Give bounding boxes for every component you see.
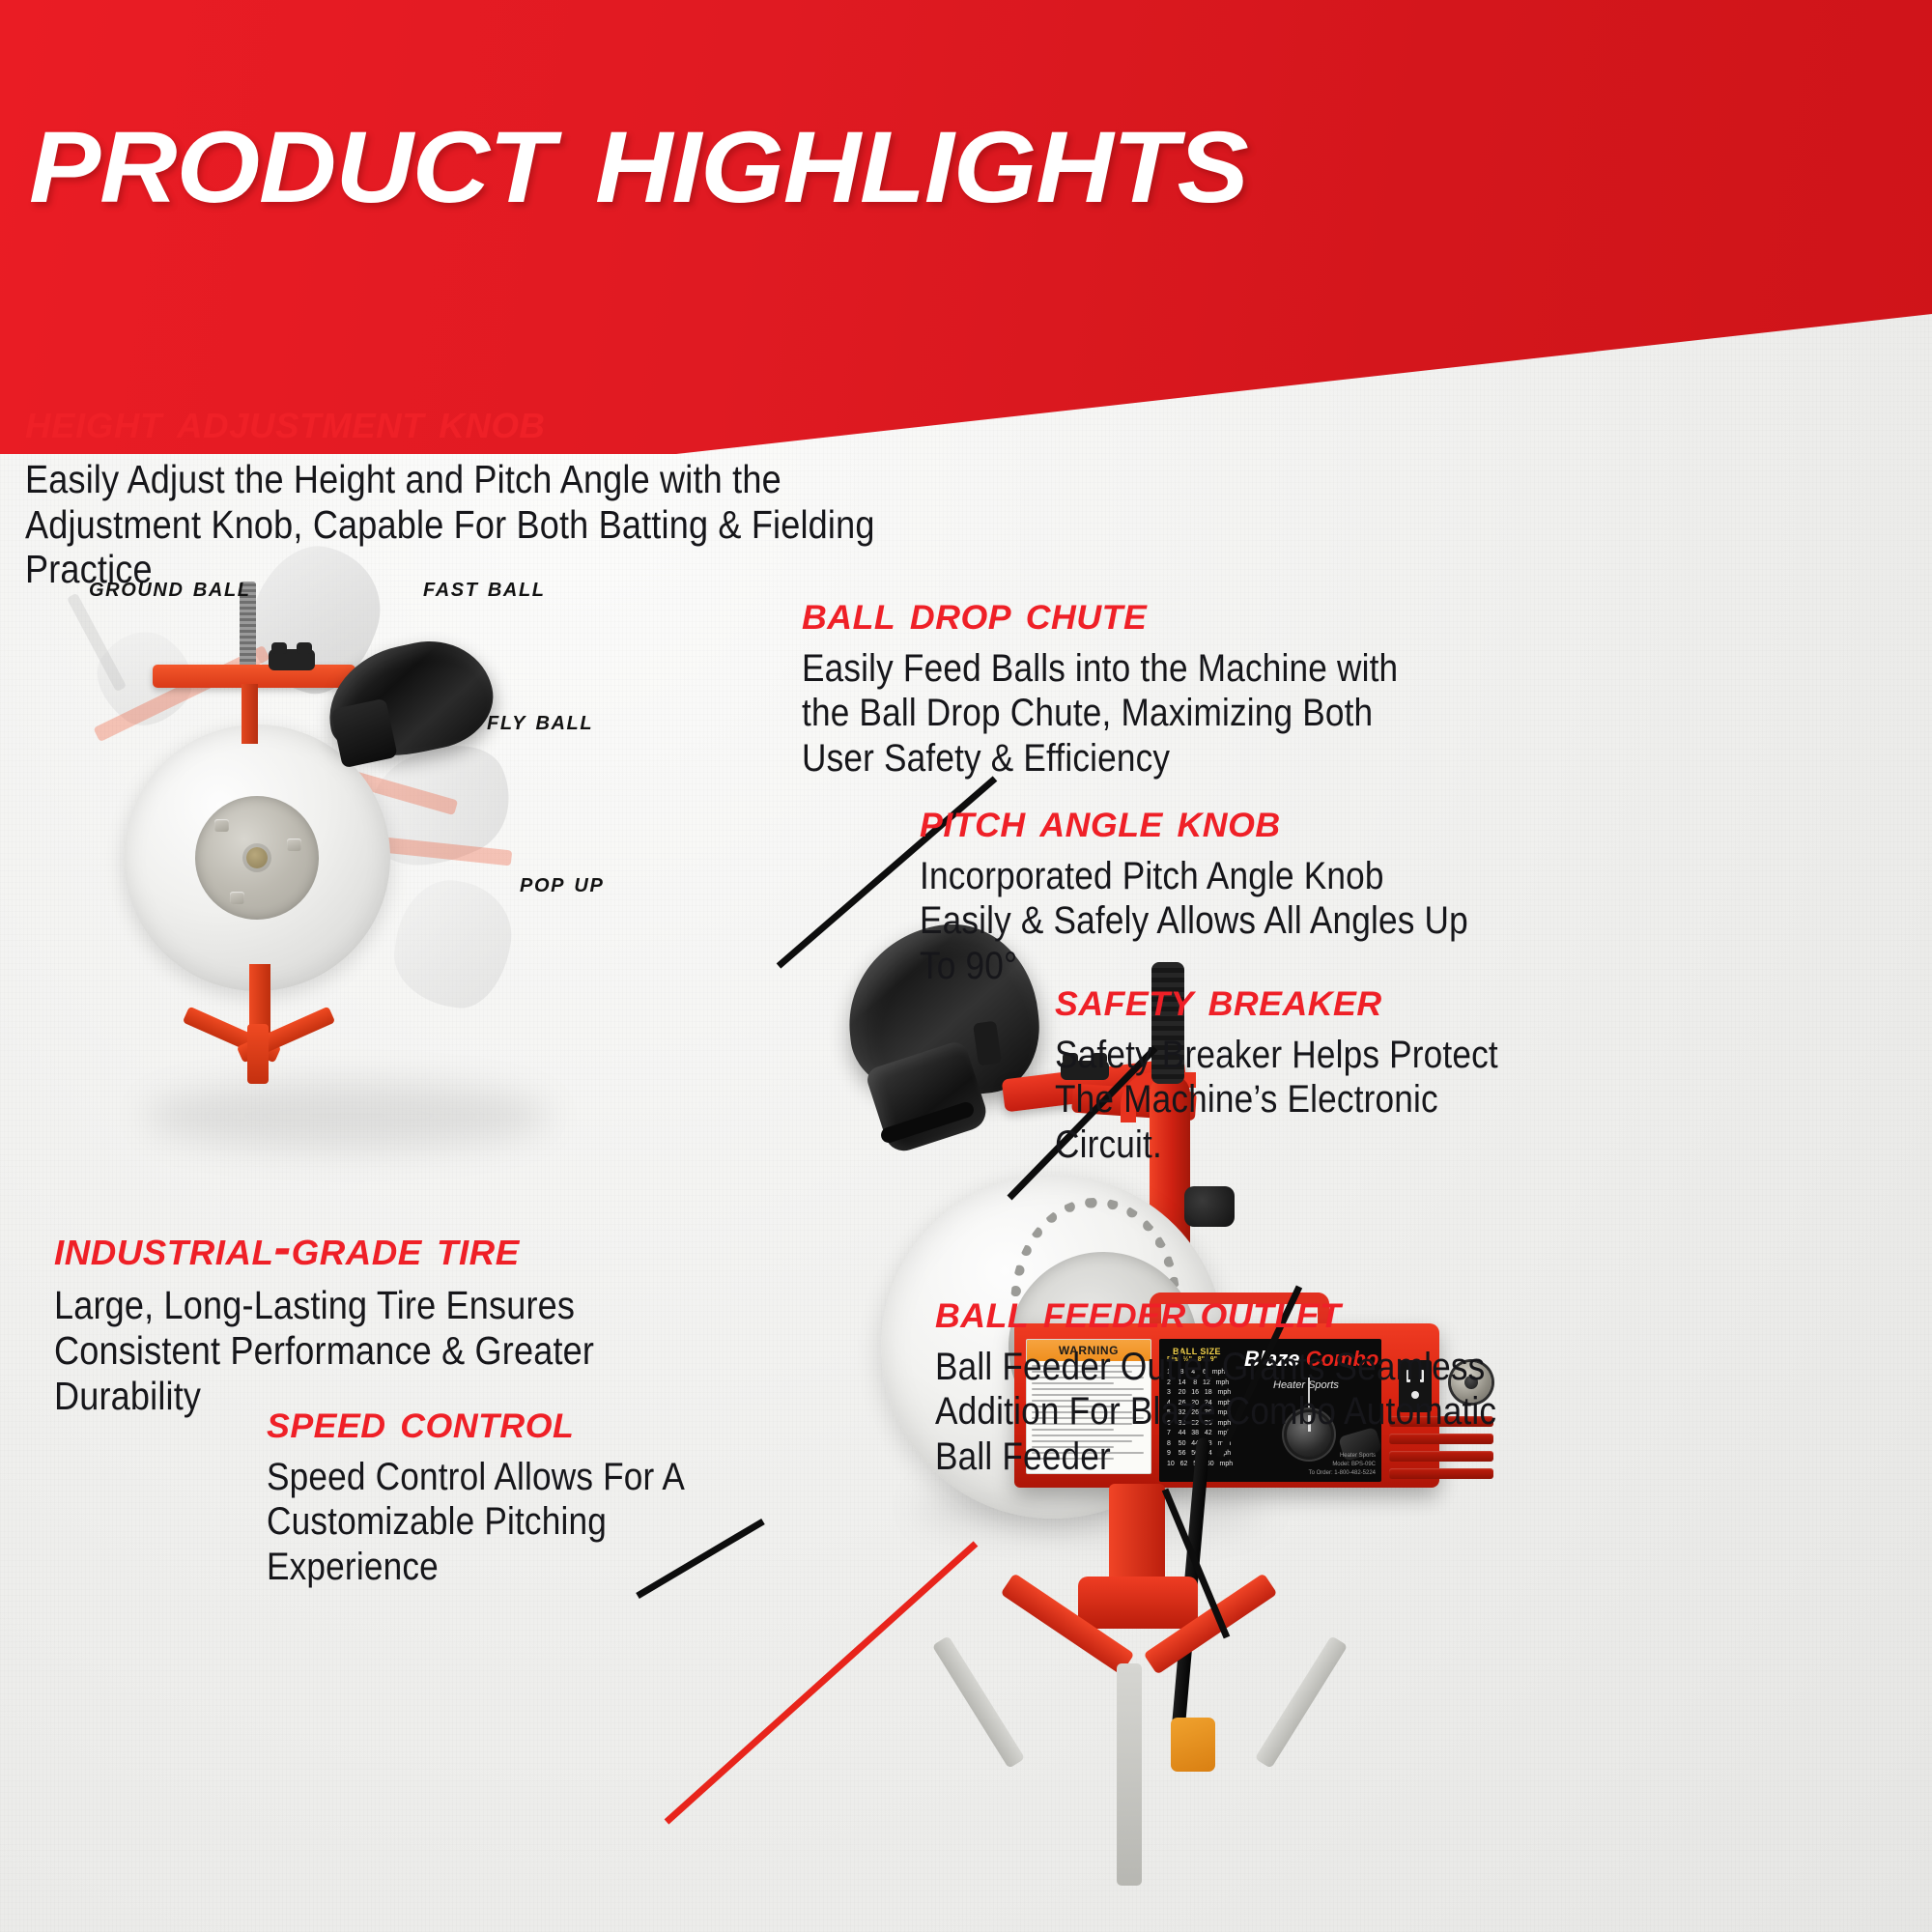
- label-pop-up: Pop Up: [520, 867, 604, 898]
- ghost-chute-popup-b: [388, 873, 519, 1013]
- feature-speed-control: Speed Control Speed Control Allows For A…: [267, 1393, 808, 1589]
- brace-stem: [241, 684, 258, 744]
- tripod-leg-extension: [1117, 1663, 1142, 1886]
- feature-industrial-grade-tire: Industrial-Grade Tire Large, Long-Lastin…: [54, 1219, 750, 1419]
- feature-body: Ball Feeder Outlet Grants Seamless Addit…: [935, 1345, 1521, 1479]
- tripod-legs-left: [182, 978, 336, 1092]
- feature-ball-feeder-outlet: Ball Feeder Outlet Ball Feeder Outlet Gr…: [935, 1283, 1631, 1479]
- feature-ball-drop-chute: Ball Drop Chute Easily Feed Balls into t…: [802, 584, 1536, 781]
- label-ground-ball: Ground Ball: [89, 572, 251, 603]
- feature-body: Easily Feed Balls into the Machine with …: [802, 646, 1448, 781]
- tire-hub-left: [195, 796, 319, 920]
- tripod-hub-plate: [1078, 1577, 1198, 1629]
- exploded-pitch-angles-photo: [77, 541, 715, 1140]
- tripod-leg-extension: [932, 1635, 1025, 1769]
- feature-body: Incorporated Pitch Angle Knob Easily & S…: [920, 854, 1481, 988]
- feature-heading: Industrial-Grade Tire: [54, 1219, 763, 1277]
- hub-bolt: [230, 892, 244, 904]
- label-fast-ball: Fast Ball: [423, 572, 546, 603]
- feature-pitch-angle-knob: Pitch Angle Knob Incorporated Pitch Angl…: [920, 792, 1538, 988]
- feature-body: Speed Control Allows For A Customizable …: [267, 1455, 709, 1589]
- feature-heading: Pitch Angle Knob: [920, 792, 1550, 848]
- feature-heading: Ball Feeder Outlet: [935, 1283, 1644, 1339]
- hub-bolt: [214, 819, 229, 832]
- page-title: Product Highlights: [29, 79, 1932, 224]
- side-adjustment-knob[interactable]: [1184, 1186, 1235, 1227]
- feature-body: Safety Breaker Helps Protect The Machine…: [1055, 1033, 1540, 1167]
- feature-height-adjustment-knob: Height Adjustment Knob Easily Adjust the…: [25, 392, 895, 592]
- height-adjustment-knob[interactable]: [269, 649, 315, 670]
- tripod-leg: [247, 1024, 269, 1084]
- feature-heading: Safety Breaker: [1055, 971, 1606, 1027]
- label-fly-ball: Fly Ball: [487, 705, 593, 736]
- ball-chute-band-left: [330, 698, 398, 769]
- feature-safety-breaker: Safety Breaker Safety Breaker Helps Prot…: [1055, 971, 1596, 1167]
- feature-heading: Speed Control: [267, 1393, 818, 1449]
- tripod-leg-extension: [1255, 1635, 1348, 1769]
- hub-bolt: [287, 838, 301, 851]
- feature-heading: Height Adjustment Knob: [25, 392, 912, 450]
- feature-heading: Ball Drop Chute: [802, 584, 1550, 640]
- tripod-legs-right: [889, 1484, 1430, 1889]
